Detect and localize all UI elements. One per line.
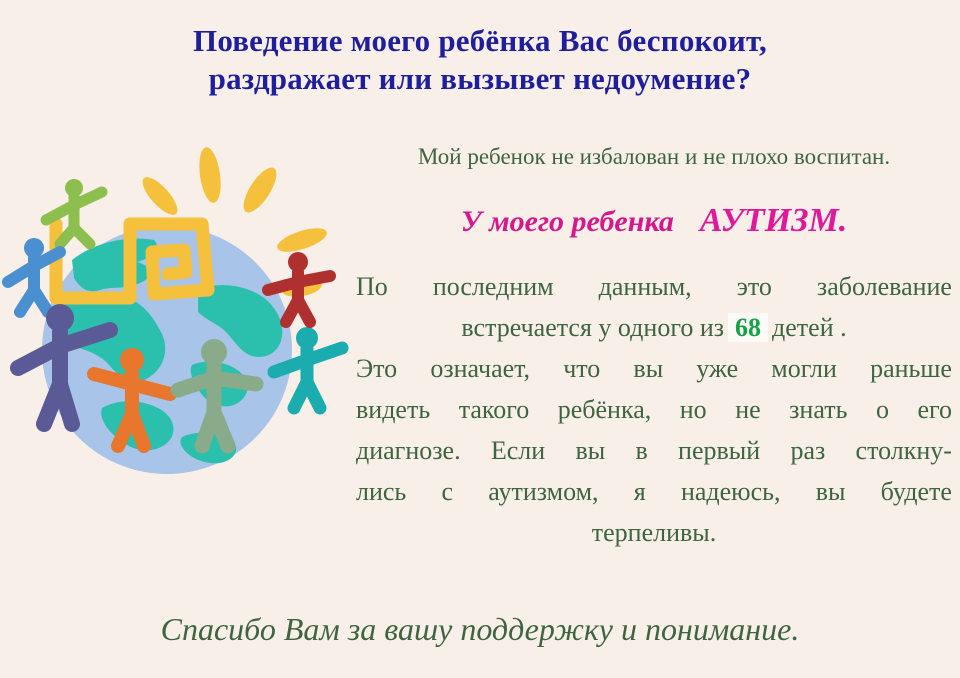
- globe-illustration: [2, 140, 352, 495]
- word: такого: [459, 389, 530, 430]
- body-line-1: По последним данным, это заболевание: [356, 266, 952, 307]
- word: означает,: [430, 348, 530, 389]
- word: надеюсь,: [681, 471, 781, 512]
- word: будете: [881, 471, 952, 512]
- body-paragraph: По последним данным, это заболевание вст…: [356, 266, 952, 553]
- message-column: Мой ребенок не избалован и не плохо восп…: [356, 142, 952, 553]
- word: о: [876, 389, 889, 430]
- title-line-1: Поведение моего ребёнка Вас беспокоит,: [0, 22, 960, 60]
- word: вы: [816, 471, 846, 512]
- word: в: [635, 430, 647, 471]
- word: знать: [789, 389, 847, 430]
- autism-phrase: У моего ребенка: [461, 205, 674, 238]
- word: его: [917, 389, 952, 430]
- word: диагнозе.: [356, 430, 461, 471]
- globe-with-children-svg: [2, 140, 352, 495]
- word: раз: [790, 430, 825, 471]
- word: могли: [771, 348, 837, 389]
- word: Это: [356, 348, 397, 389]
- word: данным,: [599, 266, 692, 307]
- word: заболевание: [817, 266, 952, 307]
- word: последним: [433, 266, 554, 307]
- body-line-2: встречается у одного из68детей .: [356, 307, 952, 348]
- stat-suffix: детей .: [772, 313, 847, 342]
- word: не: [735, 389, 760, 430]
- word: вы: [575, 430, 605, 471]
- word: но: [680, 389, 707, 430]
- word: Если: [491, 430, 545, 471]
- body-line-6: лись с аутизмом, я надеюсь, вы будете: [356, 471, 952, 512]
- word: первый: [678, 430, 760, 471]
- word: раньше: [870, 348, 952, 389]
- word: это: [737, 266, 772, 307]
- title-line-2: раздражает или вызывет недоумение?: [0, 60, 960, 98]
- page-title: Поведение моего ребёнка Вас беспокоит, р…: [0, 22, 960, 98]
- word: я: [634, 471, 646, 512]
- word: с: [442, 471, 454, 512]
- word: вы: [633, 348, 663, 389]
- body-line-4: видеть такого ребёнка, но не знать о его: [356, 389, 952, 430]
- word: ребёнка,: [558, 389, 652, 430]
- statistic-value: 68: [728, 313, 768, 342]
- word: По: [356, 266, 388, 307]
- word: лись: [356, 471, 406, 512]
- word: видеть: [356, 389, 430, 430]
- stat-prefix: встречается у одного из: [461, 313, 724, 342]
- autism-awareness-poster: Поведение моего ребёнка Вас беспокоит, р…: [0, 0, 960, 678]
- body-line-5: диагнозе. Если вы в первый раз столкну-: [356, 430, 952, 471]
- body-line-3: Это означает, что вы уже могли раньше: [356, 348, 952, 389]
- body-line-7: терпеливы.: [356, 512, 952, 553]
- word: что: [563, 348, 600, 389]
- word: аутизмом,: [488, 471, 598, 512]
- lead-statement: Мой ребенок не избалован и не плохо восп…: [356, 142, 952, 172]
- thank-you-line: Спасибо Вам за вашу поддержку и понимани…: [0, 608, 960, 650]
- autism-statement: У моего ребенкаАУТИЗМ.: [356, 202, 952, 240]
- word: столкну-: [856, 430, 952, 471]
- word: уже: [696, 348, 738, 389]
- autism-word: АУТИЗМ.: [700, 202, 847, 239]
